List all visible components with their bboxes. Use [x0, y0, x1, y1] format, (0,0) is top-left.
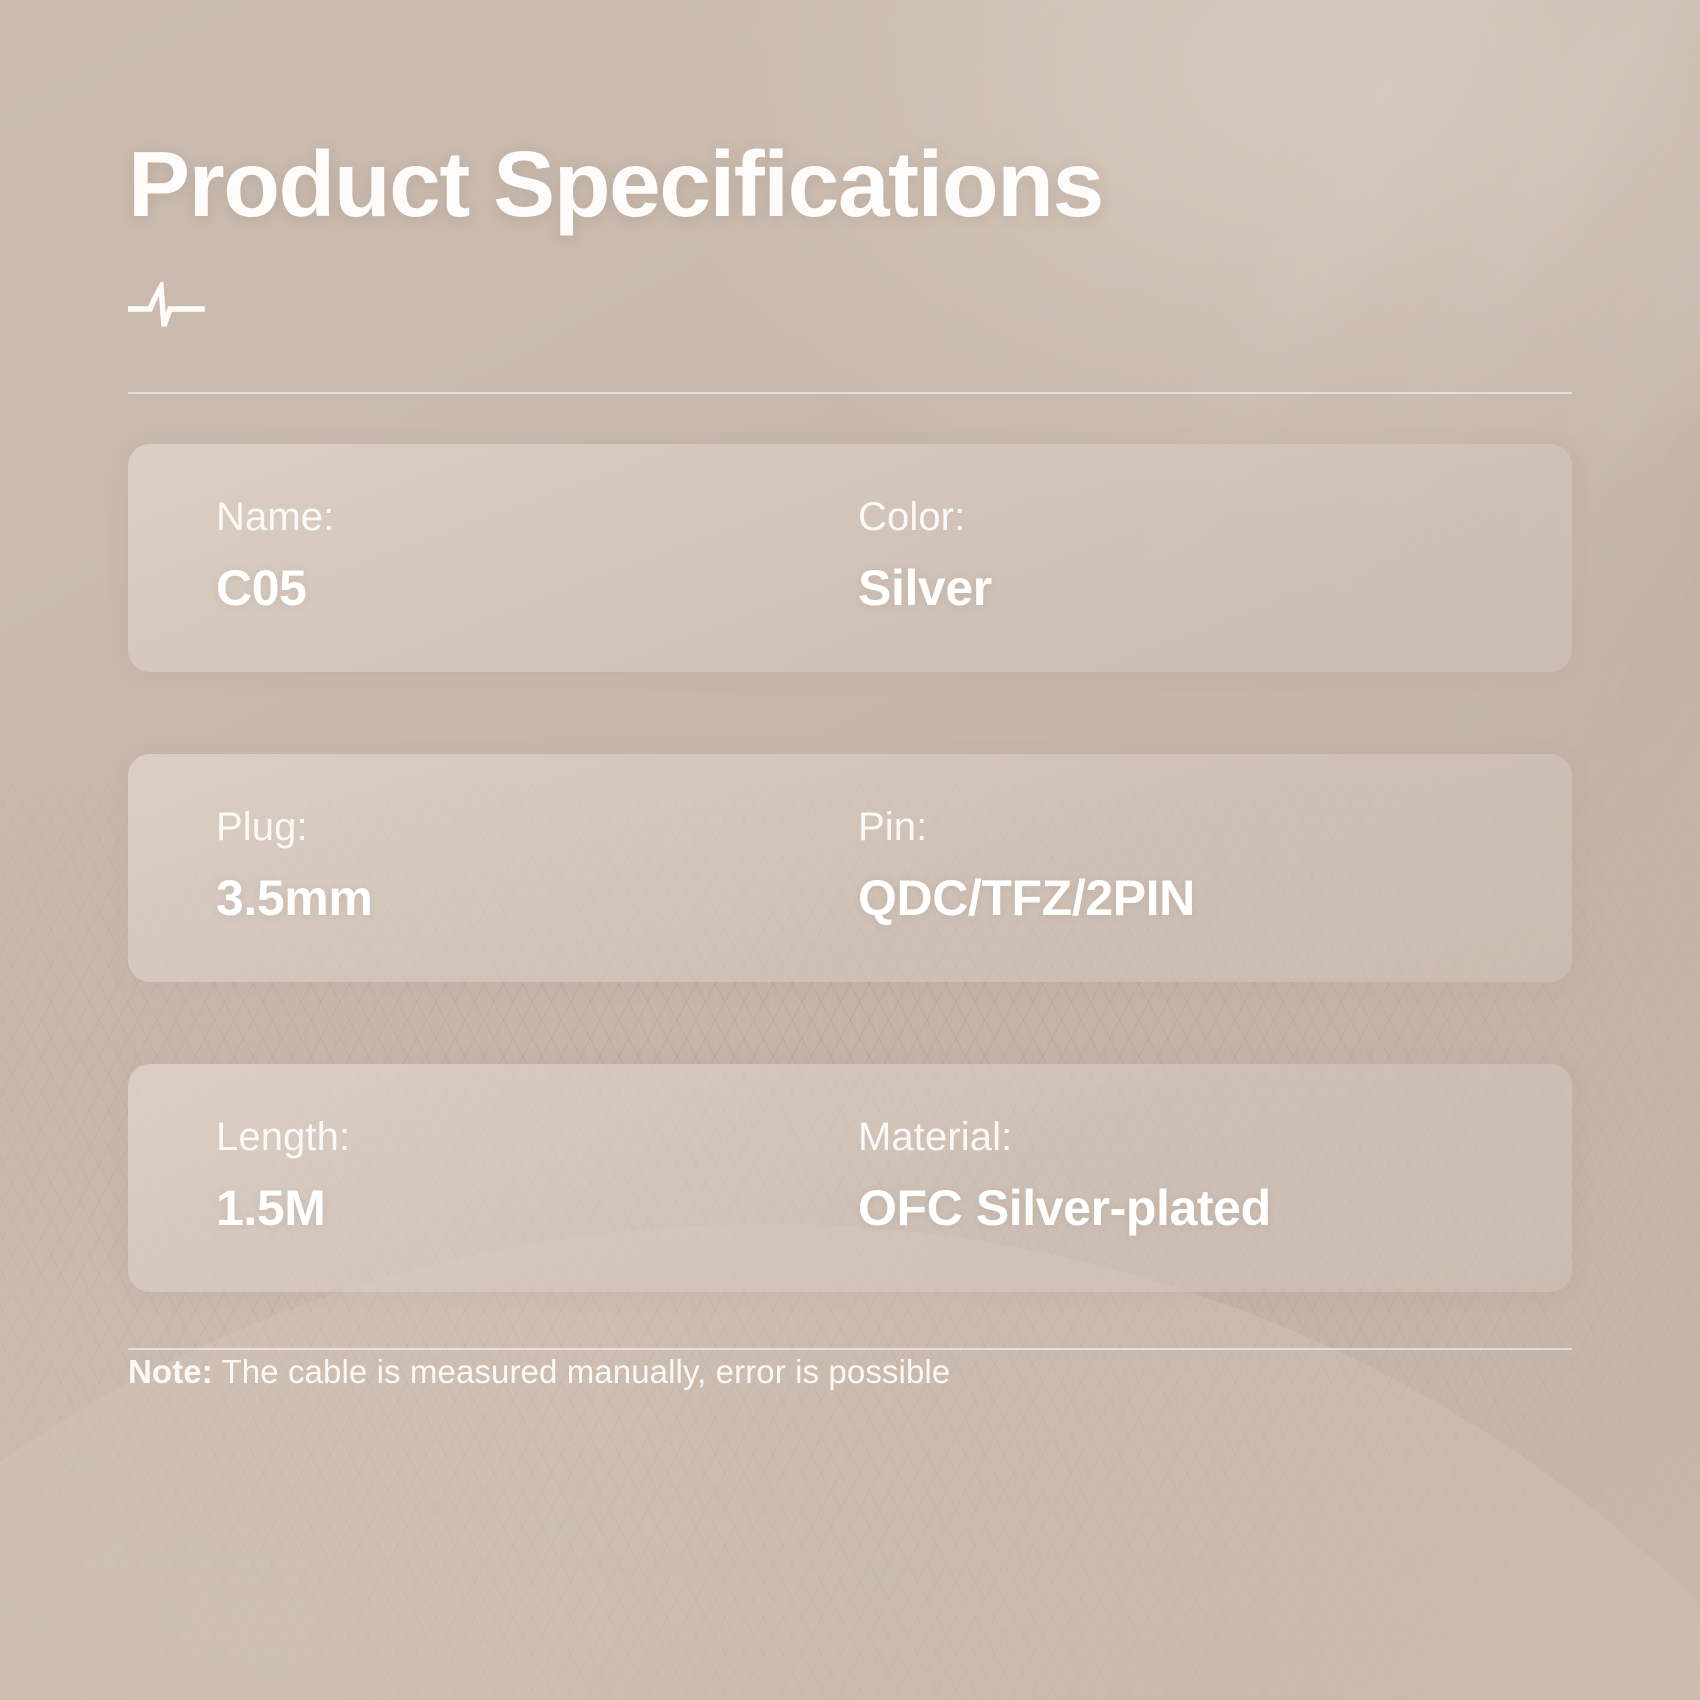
- content-container: Product Specifications Name: C05 Color: …: [0, 0, 1700, 1394]
- spec-card-list: Name: C05 Color: Silver Plug: 3.5mm Pin:…: [128, 444, 1572, 1292]
- spec-cell-pin: Pin: QDC/TFZ/2PIN: [850, 802, 1484, 928]
- spec-cell-plug: Plug: 3.5mm: [216, 802, 850, 928]
- spec-cell-name: Name: C05: [216, 492, 850, 618]
- note-body: The cable is measured manually, error is…: [222, 1353, 951, 1390]
- footer-container: Note: The cable is measured manually, er…: [128, 1348, 1572, 1395]
- spec-value-pin: QDC/TFZ/2PIN: [858, 868, 1484, 928]
- specification-card: Product Specifications Name: C05 Color: …: [0, 0, 1700, 1700]
- spec-value-name: C05: [216, 558, 850, 618]
- spec-cell-color: Color: Silver: [850, 492, 1484, 618]
- spec-value-plug: 3.5mm: [216, 868, 850, 928]
- spec-value-length: 1.5M: [216, 1178, 850, 1238]
- spec-value-material: OFC Silver-plated: [858, 1178, 1484, 1238]
- page-title: Product Specifications: [128, 0, 1572, 234]
- spec-label-pin: Pin:: [858, 802, 1484, 852]
- divider-top: [128, 392, 1572, 394]
- spec-label-material: Material:: [858, 1112, 1484, 1162]
- spec-row-1: Name: C05 Color: Silver: [128, 444, 1572, 672]
- spec-label-length: Length:: [216, 1112, 850, 1162]
- note-label: Note:: [128, 1353, 213, 1390]
- spec-row-2: Plug: 3.5mm Pin: QDC/TFZ/2PIN: [128, 754, 1572, 982]
- spec-cell-material: Material: OFC Silver-plated: [850, 1112, 1484, 1238]
- waveform-pulse-icon: [128, 282, 1572, 334]
- spec-label-color: Color:: [858, 492, 1484, 542]
- note-text: Note: The cable is measured manually, er…: [128, 1350, 1572, 1395]
- spec-label-name: Name:: [216, 492, 850, 542]
- spec-cell-length: Length: 1.5M: [216, 1112, 850, 1238]
- spec-row-3: Length: 1.5M Material: OFC Silver-plated: [128, 1064, 1572, 1292]
- spec-value-color: Silver: [858, 558, 1484, 618]
- spec-label-plug: Plug:: [216, 802, 850, 852]
